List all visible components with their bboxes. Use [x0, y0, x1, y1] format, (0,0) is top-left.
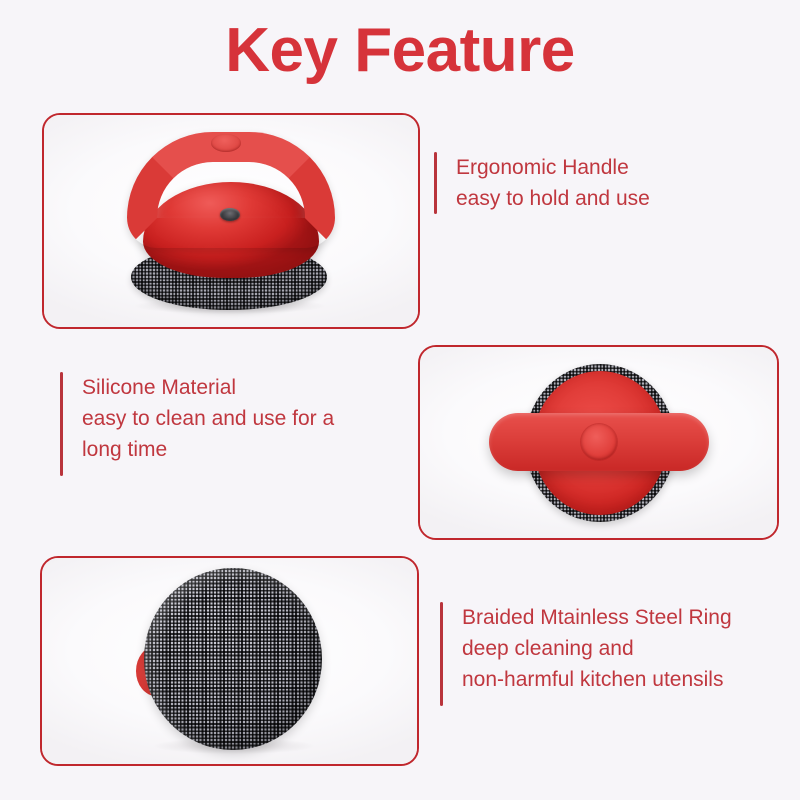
scrubber-side-view-illustration [101, 126, 361, 316]
photo-backdrop [44, 115, 418, 327]
handle-button [211, 134, 241, 152]
feature-detail-line: deep cleaning and [462, 633, 800, 664]
feature-text-ergonomic-handle: Ergonomic Handle easy to hold and use [434, 152, 756, 214]
feature-detail-line: long time [82, 434, 422, 465]
photo-backdrop [42, 558, 417, 764]
center-button-icon [581, 424, 617, 460]
feature-heading: Silicone Material [82, 372, 422, 403]
photo-backdrop [420, 347, 777, 538]
feature-text-braided-steel-ring: Braided Mtainless Steel Ring deep cleani… [440, 602, 800, 706]
page-title: Key Feature [0, 14, 800, 88]
product-photo-card-top-view [418, 345, 779, 540]
key-feature-infographic: Key Feature [0, 0, 800, 800]
accent-bar [440, 602, 443, 706]
product-photo-card-mesh [40, 556, 419, 766]
product-photo-card-handle [42, 113, 420, 329]
feature-heading: Ergonomic Handle [456, 152, 756, 183]
accent-bar [60, 372, 63, 476]
scrubber-top-view-illustration [483, 358, 715, 528]
feature-detail-line: easy to clean and use for a [82, 403, 422, 434]
feature-detail-line: easy to hold and use [456, 183, 756, 214]
feature-detail-line: non-harmful kitchen utensils [462, 664, 800, 695]
feature-heading: Braided Mtainless Steel Ring [462, 602, 800, 633]
scrubber-mesh-view-illustration [130, 568, 330, 754]
braided-steel-mesh-disc [144, 568, 322, 750]
feature-text-silicone-material: Silicone Material easy to clean and use … [60, 372, 422, 476]
handle-bar [489, 413, 709, 471]
accent-bar [434, 152, 437, 214]
